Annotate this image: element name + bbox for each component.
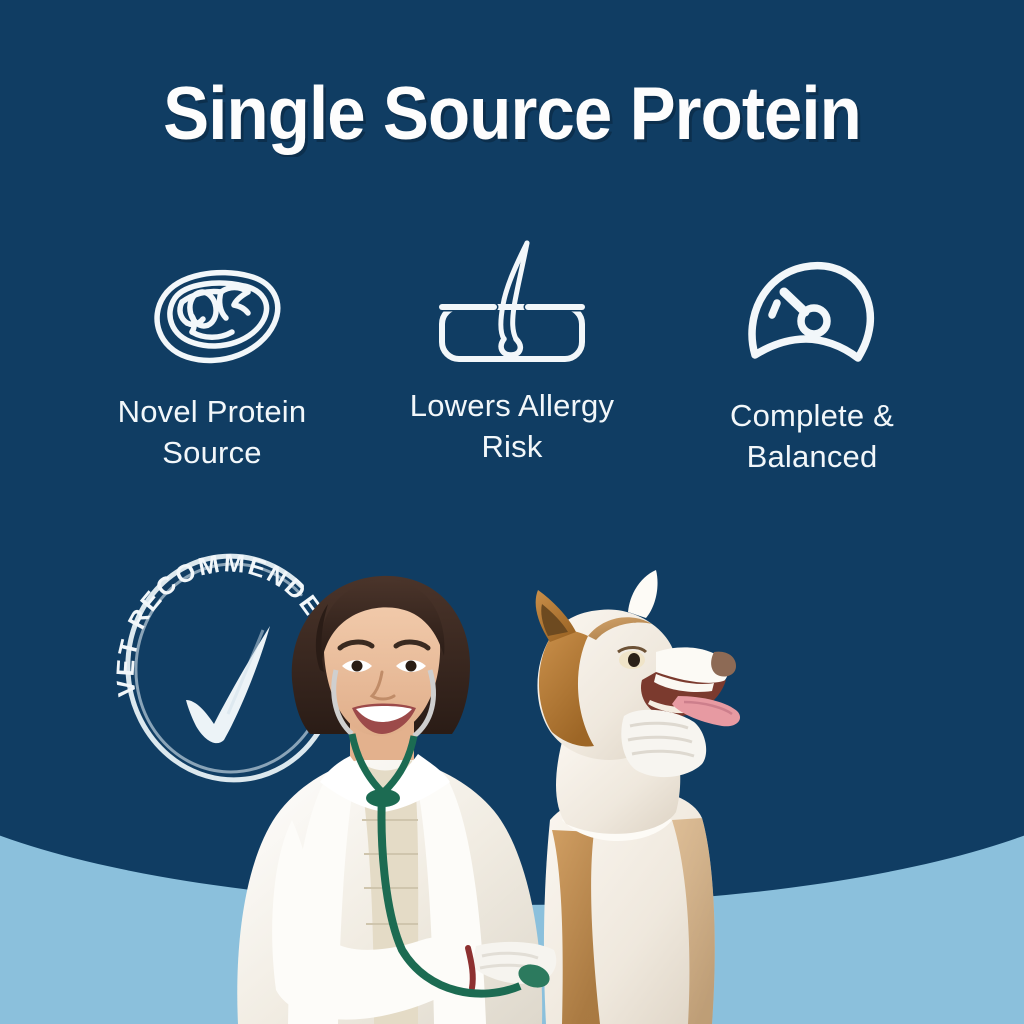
feature-label: Lowers Allergy Risk — [377, 385, 647, 467]
veterinarian — [237, 576, 556, 1024]
hair-follicle-icon — [432, 215, 592, 375]
feature-label: Novel Protein Source — [77, 391, 347, 473]
page-title: Single Source Protein — [41, 70, 983, 156]
husky-dog — [536, 570, 740, 1024]
feature-label: Complete & Balanced — [677, 395, 947, 477]
poster-canvas: Single Source Protein — [0, 0, 1024, 1024]
gauge-icon — [746, 255, 878, 385]
feature-complete-and-balanced: Complete & Balanced — [662, 255, 962, 477]
feature-novel-protein-source: Novel Protein Source — [62, 251, 362, 473]
feature-row: Novel Protein Source Lowers Allergy — [0, 225, 1024, 477]
vet-with-dog-photo — [232, 520, 792, 1024]
feature-lowers-allergy-risk: Lowers Allergy Risk — [362, 215, 662, 467]
steak-icon — [137, 251, 287, 381]
